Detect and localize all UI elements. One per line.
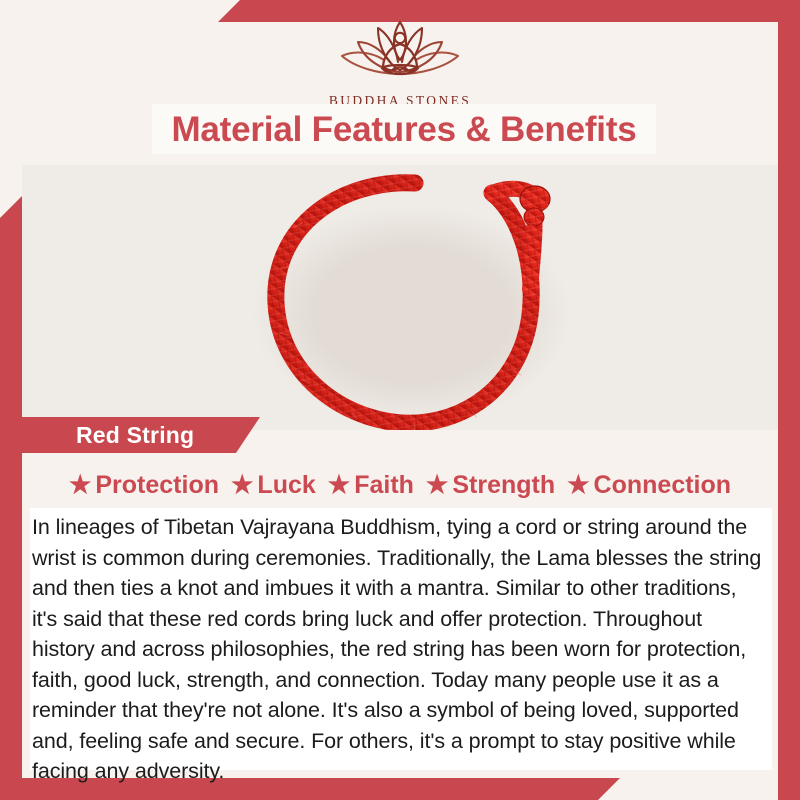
lotus-meditation-figure-icon	[0, 14, 800, 91]
star-icon: ★	[231, 473, 253, 498]
infographic-page: BUDDHA STONES Material Features & Benefi…	[0, 0, 800, 800]
benefit-label: Protection	[95, 473, 219, 498]
brand-logo: BUDDHA STONES	[0, 14, 800, 109]
benefit-item-protection: ★ Protection	[63, 473, 225, 498]
material-name: Red String	[76, 424, 194, 447]
benefit-label: Faith	[354, 473, 414, 498]
star-icon: ★	[567, 473, 589, 498]
benefit-item-strength: ★ Strength	[420, 473, 561, 498]
benefit-item-luck: ★ Luck	[225, 473, 322, 498]
material-ribbon: Red String	[22, 417, 260, 453]
benefit-label: Luck	[257, 473, 315, 498]
star-icon: ★	[426, 473, 448, 498]
benefit-item-connection: ★ Connection	[561, 473, 737, 498]
product-photo	[22, 165, 778, 430]
title-banner: Material Features & Benefits	[152, 104, 656, 154]
frame-accent-right	[778, 0, 800, 800]
page-title: Material Features & Benefits	[171, 112, 636, 147]
description-paragraph: In lineages of Tibetan Vajrayana Buddhis…	[30, 508, 772, 787]
red-braided-string-bracelet	[22, 165, 778, 430]
benefit-label: Connection	[594, 473, 732, 498]
frame-accent-left	[0, 196, 22, 800]
star-icon: ★	[328, 473, 350, 498]
benefits-row: ★ Protection ★ Luck ★ Faith ★ Strength ★…	[22, 466, 778, 504]
benefit-item-faith: ★ Faith	[322, 473, 420, 498]
benefit-label: Strength	[452, 473, 555, 498]
description-card: In lineages of Tibetan Vajrayana Buddhis…	[30, 508, 772, 770]
star-icon: ★	[69, 473, 91, 498]
